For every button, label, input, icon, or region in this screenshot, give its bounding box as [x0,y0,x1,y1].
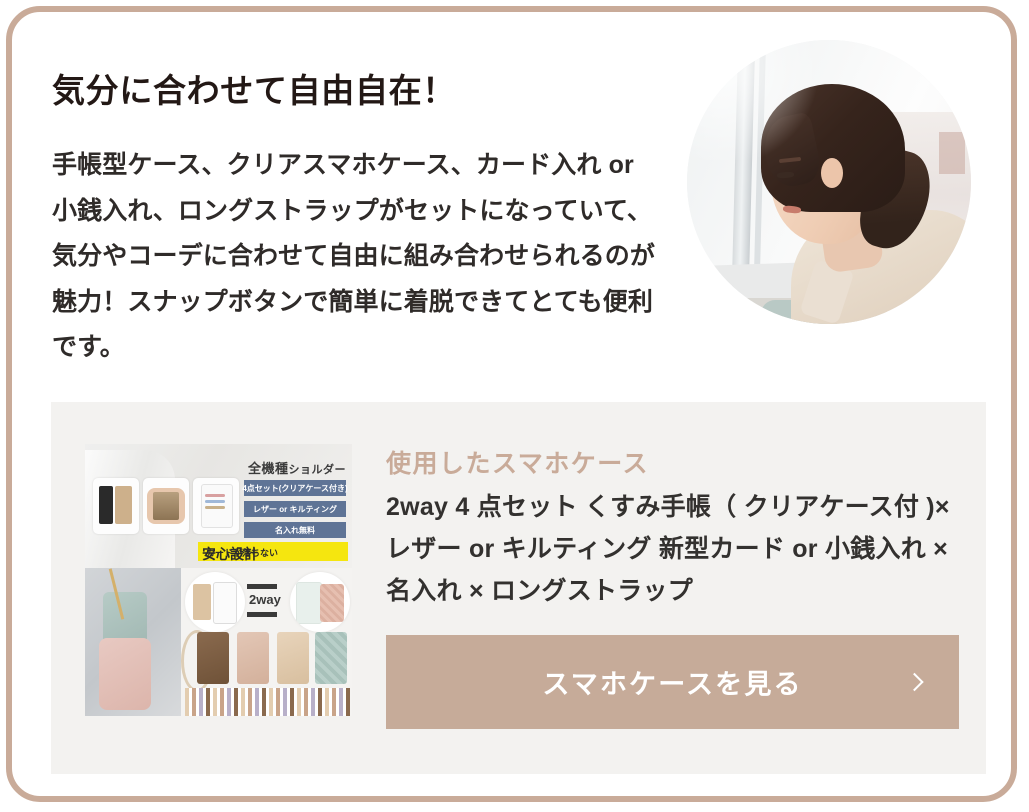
thumb-highlight-band: カードが落ちない安心設計 [198,542,348,561]
thumb-badge-0: 4点セット(クリアケース付き) [244,480,346,496]
thumb-mini-2 [143,478,189,534]
portrait-photo [687,40,971,324]
page-title: 気分に合わせて自由自在！ [52,70,692,111]
mini-phone [99,486,113,524]
thumb-color-swatch-3 [277,632,309,684]
product-eyebrow: 使用したスマホケース [386,444,649,480]
thumb-color-swatch-1 [197,632,229,684]
view-phone-case-button[interactable]: スマホケースを見る [386,635,959,729]
thumb-color-swatch-2 [237,632,269,684]
product-panel: 全機種ショルダー 4点セット(クリアケース付き) レザー or キルティング 名… [51,402,986,774]
mini-stripe-1 [205,494,225,497]
promo-card: 気分に合わせて自由自在！ 手帳型ケース、クリアスマホケース、カード入れ or 小… [6,6,1017,802]
thumb-badge-1: レザー or キルティング [244,501,346,517]
mini-wallet [115,486,132,524]
thumb-arrow-left-icon [247,584,277,589]
chevron-right-icon [906,675,921,690]
thumb-strap-variants [185,688,350,716]
thumb-mini-1 [93,478,139,534]
product-title: 2way 4 点セット くすみ手帳（ クリアケース付 )× レザー or キルテ… [386,486,966,612]
background-building-accent [939,132,965,174]
thumb-mini-3 [193,478,239,534]
mini-card [153,492,179,520]
thumb-bubble-1 [185,572,245,632]
intro-description: 手帳型ケース、クリアスマホケース、カード入れ or 小銭入れ、ロングストラップが… [52,143,664,371]
thumb-title: 全機種ショルダー [248,458,346,477]
model-ear [821,158,843,188]
thumb-model-photo [85,568,181,716]
thumb-color-swatch-4 [315,632,347,684]
thumb-arrow-right-icon [247,612,277,617]
thumb-badge-2: 名入れ無料 [244,522,346,538]
thumb-title-sub: ショルダー [289,464,347,476]
mini-stripe-2 [205,500,225,503]
product-thumbnail[interactable]: 全機種ショルダー 4点セット(クリアケース付き) レザー or キルティング 名… [85,444,352,716]
thumb-highlight-prefix: カードが落ちない [206,546,278,559]
thumb-highlight-text: カードが落ちない安心設計 [202,544,258,564]
thumb-mode-label: 2way [249,592,281,607]
view-phone-case-label: スマホケースを見る [386,663,959,702]
mini-stripe-3 [205,506,225,509]
thumb-title-main: 全機種 [248,461,289,476]
thumb-bubble-2 [290,572,350,632]
window-glare [687,40,827,160]
